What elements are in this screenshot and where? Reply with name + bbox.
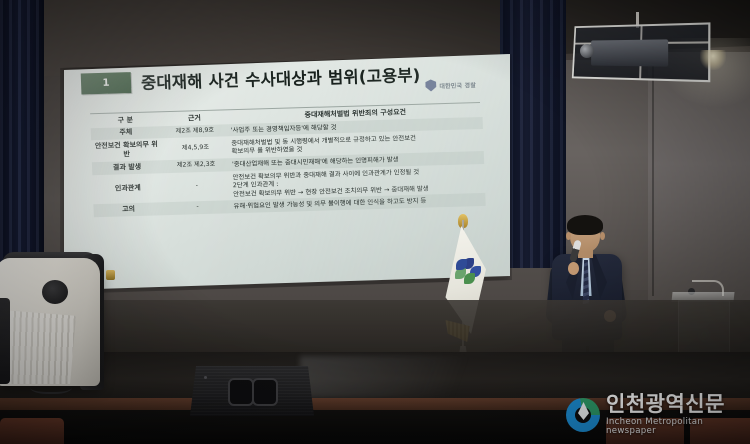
cell-basis: - bbox=[162, 171, 231, 202]
presenter-hand-left bbox=[568, 262, 579, 275]
shield-icon bbox=[425, 79, 436, 91]
cell-division: 고의 bbox=[93, 202, 163, 217]
cell-basis: - bbox=[163, 200, 231, 215]
cell-division: 인과관계 bbox=[92, 173, 163, 204]
monitor-indicator-led-icon bbox=[204, 376, 207, 379]
purifier-power-cord bbox=[30, 378, 72, 394]
watermark: 인천광역신문 Incheon Metropolitan newspaper bbox=[566, 392, 746, 438]
slide-number-badge: 1 bbox=[81, 72, 132, 94]
slide-title: 중대재해 사건 수사대상과 범위(고용부) bbox=[141, 62, 421, 94]
watermark-text: 인천광역신문 Incheon Metropolitan newspaper bbox=[606, 394, 746, 435]
watermark-english: Incheon Metropolitan newspaper bbox=[606, 418, 746, 435]
newspaper-logo-icon bbox=[566, 398, 600, 432]
slide-logo-text: 대한민국 경찰 bbox=[439, 80, 476, 90]
watermark-korean: 인천광역신문 bbox=[606, 394, 746, 415]
purifier-vent bbox=[0, 298, 10, 384]
purifier-grille bbox=[2, 310, 76, 384]
audience-seat bbox=[0, 418, 64, 444]
monitor-handle-right bbox=[252, 378, 278, 406]
air-purifier bbox=[0, 252, 118, 392]
projector-body bbox=[591, 39, 668, 66]
stage-monitor-speaker bbox=[190, 366, 314, 424]
presenter-hair bbox=[567, 215, 603, 235]
projector-lens-icon bbox=[580, 44, 594, 58]
presenter-ear-right bbox=[600, 232, 605, 240]
emblem-petal bbox=[464, 273, 475, 284]
ceiling-spotlight bbox=[700, 50, 726, 70]
wall-seam bbox=[652, 56, 654, 296]
monitor-handle-left bbox=[228, 378, 254, 406]
cell-basis: 제4,5,9조 bbox=[161, 137, 230, 161]
photo-scene: 1 중대재해 사건 수사대상과 범위(고용부) 대한민국 경찰 구 분 근거 중… bbox=[0, 0, 750, 444]
slide-number: 1 bbox=[102, 78, 109, 89]
slide-table: 구 분 근거 중대재해처벌법 위반죄의 구성요건 주체 제2조 제8,9호 '사… bbox=[90, 104, 485, 217]
slide-org-logo: 대한민국 경찰 bbox=[425, 78, 476, 91]
ceiling-projector bbox=[566, 24, 708, 80]
purifier-intake-port-icon bbox=[42, 280, 68, 304]
cell-division: 안전보건 확보의무 위반 bbox=[91, 138, 162, 162]
flag-emblem-icon bbox=[454, 258, 480, 284]
floor-reflection bbox=[300, 356, 530, 398]
purifier-cap bbox=[106, 270, 115, 280]
presenter-ear-left bbox=[566, 232, 571, 240]
